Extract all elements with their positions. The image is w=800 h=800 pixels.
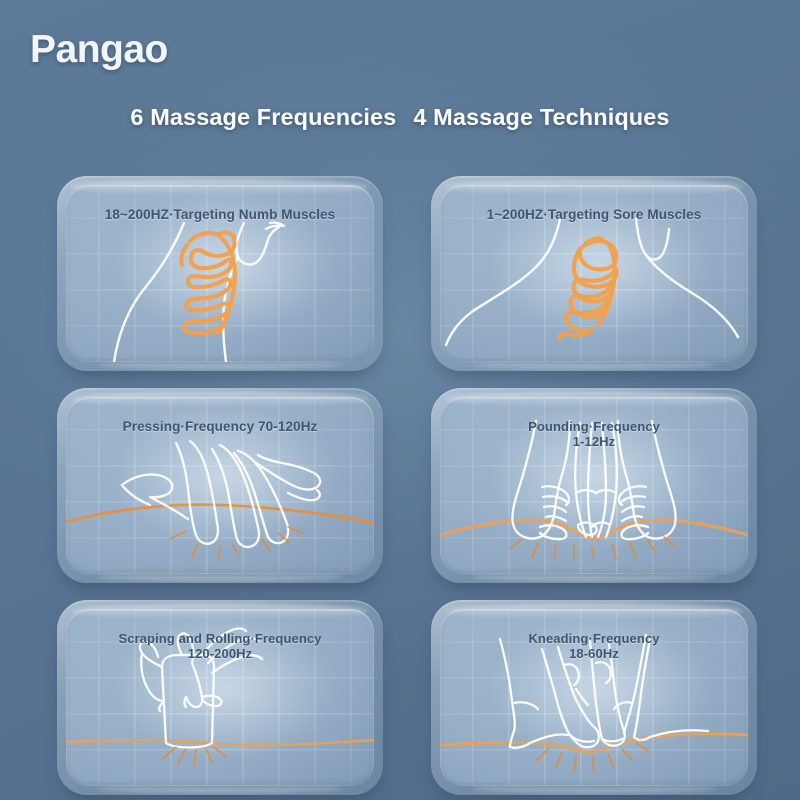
card-targeting-sore-muscles[interactable]: 1~200HZ·Targeting Sore Muscles <box>431 176 757 371</box>
card-inner-panel: Pounding·Frequency 1-12Hz <box>440 397 748 574</box>
brand-name: Pangao <box>30 28 168 72</box>
card-grid: 18~200HZ·Targeting Numb Muscles <box>57 176 757 786</box>
card-inner-panel: 18~200HZ·Targeting Numb Muscles <box>66 185 374 362</box>
illustration-fists-pounding <box>440 397 748 574</box>
illustration-upper-back <box>440 185 748 362</box>
illustration-hand-pressing <box>66 397 374 574</box>
card-pounding[interactable]: Pounding·Frequency 1-12Hz <box>431 388 757 583</box>
headline: 6 Massage Frequencies4 Massage Technique… <box>0 104 800 131</box>
card-kneading[interactable]: Kneading·Frequency 18-60Hz <box>431 600 757 795</box>
card-inner-panel: Kneading·Frequency 18-60Hz <box>440 609 748 786</box>
illustration-neck-shoulder-profile <box>66 185 374 362</box>
illustration-scraping-tool <box>66 609 374 786</box>
card-scraping-and-rolling[interactable]: Scraping and Rolling·Frequency 120-200Hz <box>57 600 383 795</box>
card-targeting-numb-muscles[interactable]: 18~200HZ·Targeting Numb Muscles <box>57 176 383 371</box>
card-pressing[interactable]: Pressing·Frequency 70-120Hz <box>57 388 383 583</box>
card-inner-panel: 1~200HZ·Targeting Sore Muscles <box>440 185 748 362</box>
card-inner-panel: Scraping and Rolling·Frequency 120-200Hz <box>66 609 374 786</box>
illustration-fingers-kneading <box>440 609 748 786</box>
product-infographic: Pangao 6 Massage Frequencies4 Massage Te… <box>0 0 800 800</box>
headline-techniques: 4 Massage Techniques <box>413 104 669 130</box>
headline-frequencies: 6 Massage Frequencies <box>130 104 396 130</box>
card-inner-panel: Pressing·Frequency 70-120Hz <box>66 397 374 574</box>
